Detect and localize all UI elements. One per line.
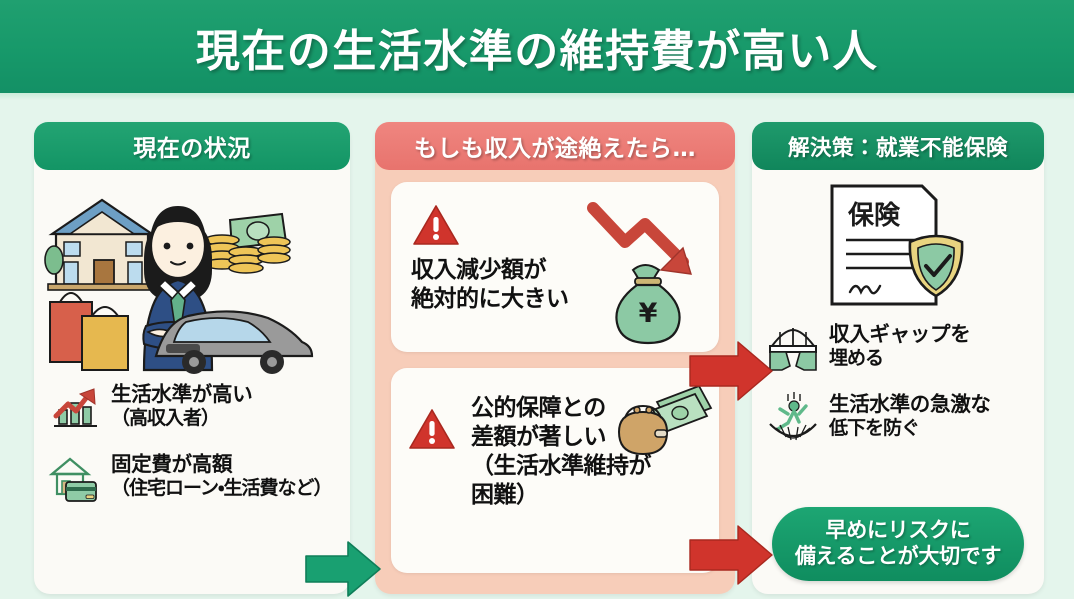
declining-arrow-icon: [593, 208, 691, 274]
column-income-loss-risk: もしも収入が途絶えたら… 収入減少額が 絶対的に大きい: [375, 122, 735, 594]
cta-line-1: 早めにリスクに: [826, 518, 971, 544]
cta-prepare-early[interactable]: 早めにリスクに 備えることが大切です: [772, 507, 1024, 581]
title-underline-divider: [0, 93, 1074, 100]
bullet-fixed-costs-text: 固定費が高額 （住宅ローン・生活費など）: [111, 450, 332, 500]
policy-document-label: 保険: [847, 200, 901, 231]
bullet-living-standard-text: 生活水準が高い （高収入者）: [111, 380, 252, 430]
rising-chart-arrow-icon: [48, 380, 102, 434]
warning-triangle-icon: [409, 408, 455, 450]
bullet-prevent-drop: 生活水準の急激な 低下を防ぐ: [766, 390, 1058, 444]
page-title: 現在の生活水準の維持費が高い人: [196, 15, 879, 79]
bridge-gap-icon: [766, 320, 820, 374]
safety-net-icon: [766, 390, 820, 444]
bullet-fixed-costs: 固定費が高額 （住宅ローン・生活費など）: [48, 450, 340, 504]
column-header-solution: 解決策：就業不能保険: [752, 122, 1044, 170]
bullet-prevent-drop-text: 生活水準の急激な 低下を防ぐ: [829, 390, 991, 440]
current-situation-illustration: [34, 174, 350, 370]
bullet-living-standard: 生活水準が高い （高収入者）: [48, 380, 340, 434]
arrow-risk-to-solution-1: [690, 340, 774, 402]
column-header-current: 現在の状況: [34, 122, 350, 170]
column-current-situation: 現在の状況: [34, 122, 350, 594]
house-icon: [45, 200, 154, 290]
shopping-bags-icon: [50, 293, 128, 370]
cta-line-2: 備えることが大切です: [795, 544, 1001, 570]
svg-text:¥: ¥: [639, 298, 658, 329]
title-banner: 現在の生活水準の維持費が高い人: [0, 0, 1074, 93]
arrow-risk-to-solution-2: [690, 524, 774, 586]
warning-triangle-icon: [413, 204, 459, 246]
solution-bullets-list: 収入ギャップを 埋める 生活水準: [766, 320, 1058, 460]
bullet-income-gap: 収入ギャップを 埋める: [766, 320, 1058, 374]
cash-and-coins-icon: [205, 214, 290, 273]
bullet-income-gap-text: 収入ギャップを 埋める: [829, 320, 970, 370]
column-header-risk: もしも収入が途絶えたら…: [375, 122, 735, 170]
current-bullets-list: 生活水準が高い （高収入者） 固定費が高額: [48, 380, 340, 520]
risk-card-income-drop: 収入減少額が 絶対的に大きい ¥: [391, 182, 719, 352]
arrow-current-to-risk: [304, 538, 382, 599]
declining-arrow-and-money-bag: ¥: [587, 200, 713, 350]
risk-card-coverage-gap: 公的保障との 差額が著しい （生活水準維持が 困難）: [391, 368, 719, 573]
infographic-board: 現在の状況: [0, 100, 1074, 599]
column-solution: 解決策：就業不能保険 保険: [752, 122, 1044, 594]
coin-purse-icon: [619, 406, 667, 454]
risk-card-income-drop-text: 収入減少額が 絶対的に大きい: [411, 256, 569, 314]
insurance-policy-illustration: 保険: [802, 180, 1002, 310]
house-credit-card-icon: [48, 450, 102, 504]
money-bag-yen-icon: ¥: [616, 265, 679, 343]
